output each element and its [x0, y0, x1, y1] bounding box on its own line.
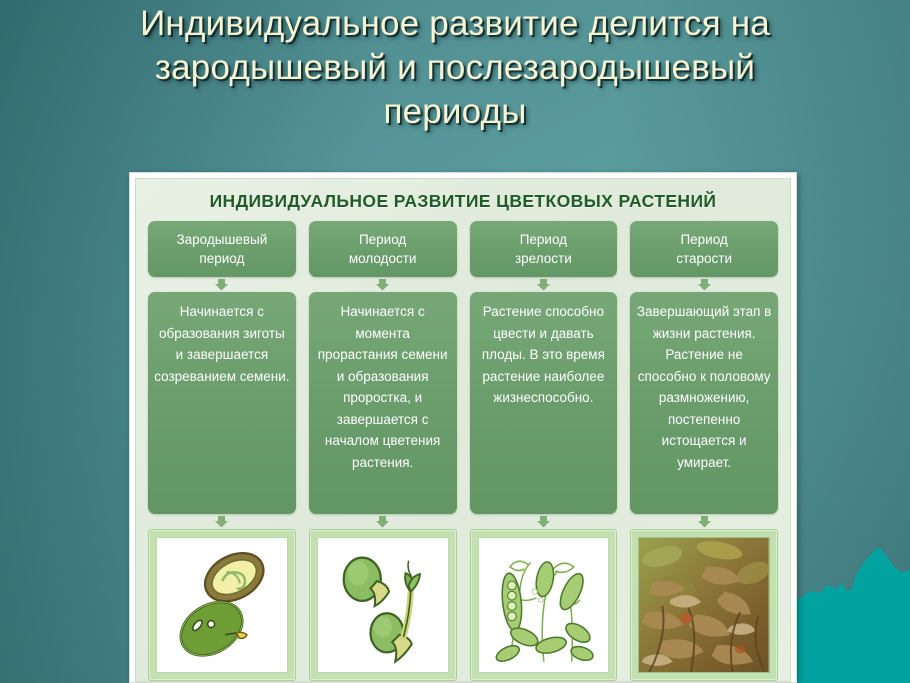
period-columns-grid: Зародышевый период Начинается с образова… — [148, 221, 778, 681]
arrow-down-icon-2b — [309, 514, 457, 529]
period-image-frame-4 — [630, 529, 778, 681]
seed-and-seed-cross-section-illustration — [156, 537, 288, 673]
period-title-line-4a: Период — [634, 230, 774, 249]
period-column-youth: Период молодости Начинается с момента пр… — [309, 221, 457, 681]
diagram-card: ИНДИВИДУАЛЬНОЕ РАЗВИТИЕ ЦВЕТКОВЫХ РАСТЕН… — [129, 172, 797, 683]
period-description-box-1: Начинается с образования зиготы и заверш… — [148, 292, 296, 514]
withered-dry-plant-photo — [638, 537, 770, 673]
period-title-line-4b: старости — [634, 249, 774, 268]
arrow-down-icon-1a — [148, 277, 296, 292]
slide-title-line-1: Индивидуальное развитие делится на — [0, 2, 910, 46]
period-column-embryonic: Зародышевый период Начинается с образова… — [148, 221, 296, 681]
diagram-header-title: ИНДИВИДУАЛЬНОЕ РАЗВИТИЕ ЦВЕТКОВЫХ РАСТЕН… — [148, 191, 778, 212]
period-column-maturity: Период зрелости Растение способно цвести… — [470, 221, 618, 681]
period-title-box-2: Период молодости — [309, 221, 457, 277]
period-title-line-1a: Зародышевый — [152, 230, 292, 249]
period-title-box-1: Зародышевый период — [148, 221, 296, 277]
slide-title: Индивидуальное развитие делится на зарод… — [0, 2, 910, 134]
diagram-card-inner: ИНДИВИДУАЛЬНОЕ РАЗВИТИЕ ЦВЕТКОВЫХ РАСТЕН… — [135, 178, 791, 682]
period-column-old-age: Период старости Завершающий этап в жизни… — [630, 221, 778, 681]
period-description-box-2: Начинается с момента прорастания семени … — [309, 292, 457, 514]
arrow-down-icon-1b — [148, 514, 296, 529]
germinating-seedling-illustration — [317, 537, 449, 673]
period-title-line-3a: Период — [474, 230, 614, 249]
period-title-box-4: Период старости — [630, 221, 778, 277]
arrow-down-icon-4a — [630, 277, 778, 292]
arrow-down-icon-3a — [470, 277, 618, 292]
arrow-down-icon-4b — [630, 514, 778, 529]
mountain-decoration-icon — [780, 515, 910, 683]
period-description-box-4: Завершающий этап в жизни растения. Расте… — [630, 292, 778, 514]
period-title-line-2b: молодости — [313, 249, 453, 268]
period-image-frame-3 — [470, 529, 618, 681]
slide-title-line-2: зародышевый и послезародышевый — [0, 46, 910, 90]
period-image-frame-1 — [148, 529, 296, 681]
pea-pods-plant-illustration — [478, 537, 610, 673]
period-image-frame-2 — [309, 529, 457, 681]
arrow-down-icon-3b — [470, 514, 618, 529]
period-title-line-1b: период — [152, 249, 292, 268]
period-description-box-3: Растение способно цвести и давать плоды.… — [470, 292, 618, 514]
slide-title-line-3: периоды — [0, 90, 910, 134]
period-title-line-3b: зрелости — [474, 249, 614, 268]
period-title-box-3: Период зрелости — [470, 221, 618, 277]
period-title-line-2a: Период — [313, 230, 453, 249]
arrow-down-icon-2a — [309, 277, 457, 292]
